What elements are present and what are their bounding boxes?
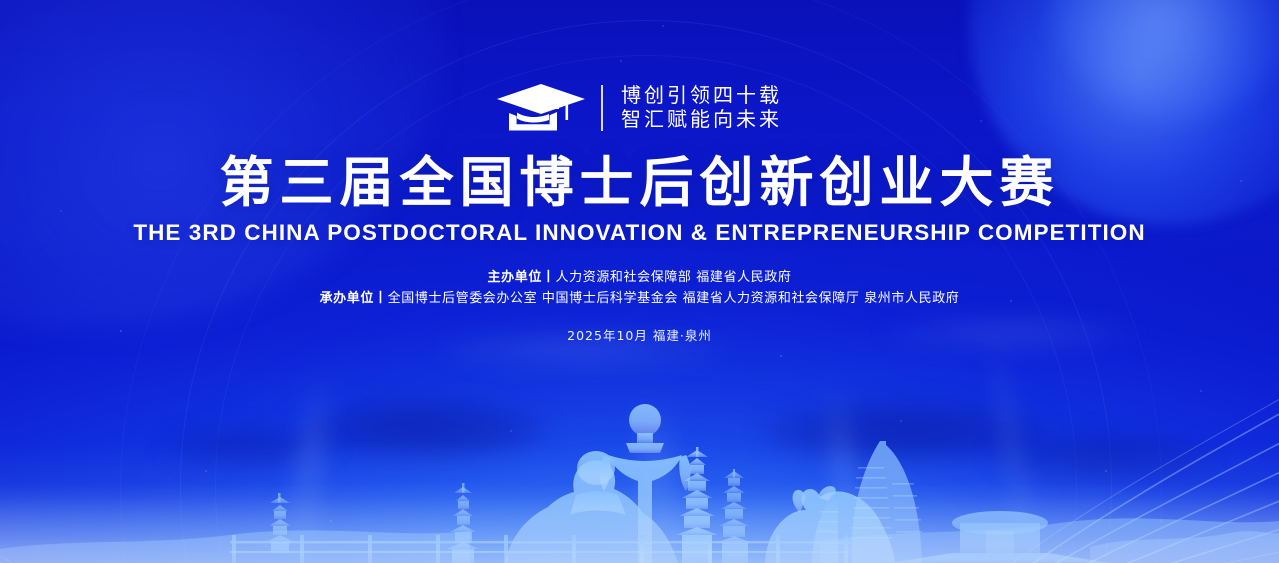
slogan-line-2: 智汇赋能向未来 <box>621 108 782 132</box>
organizer-separator: 丨 <box>374 291 388 306</box>
organizer-line: 主办单位丨人力资源和社会保障部 福建省人民政府 <box>0 267 1279 288</box>
page-title-english: THE 3RD CHINA POSTDOCTORAL INNOVATION & … <box>0 220 1279 246</box>
organizer-value: 人力资源和社会保障部 福建省人民政府 <box>556 270 792 285</box>
organizer-line: 承办单位丨全国博士后管委会办公室 中国博士后科学基金会 福建省人力资源和社会保障… <box>0 288 1279 309</box>
poster-content: 博创引领四十载 智汇赋能向未来 第三届全国博士后创新创业大赛 THE 3RD C… <box>0 0 1279 344</box>
organizer-separator: 丨 <box>542 270 556 285</box>
poster-canvas: 博创引领四十载 智汇赋能向未来 第三届全国博士后创新创业大赛 THE 3RD C… <box>0 0 1279 563</box>
organizer-label: 主办单位 <box>488 270 542 285</box>
event-datetime-location: 2025年10月 福建·泉州 <box>0 325 1279 344</box>
organizers-block: 主办单位丨人力资源和社会保障部 福建省人民政府 承办单位丨全国博士后管委会办公室… <box>0 267 1279 309</box>
organizer-value: 全国博士后管委会办公室 中国博士后科学基金会 福建省人力资源和社会保障厅 泉州市… <box>388 291 960 306</box>
logo-slogan: 博创引领四十载 智汇赋能向未来 <box>617 84 782 131</box>
ground-fog <box>0 443 1279 563</box>
slogan-line-1: 博创引领四十载 <box>621 84 782 108</box>
page-title-chinese: 第三届全国博士后创新创业大赛 <box>0 154 1279 211</box>
organizer-label: 承办单位 <box>320 291 374 306</box>
graduation-cap-logo-icon <box>497 82 587 134</box>
logo-divider <box>601 85 603 131</box>
logo-lockup: 博创引领四十载 智汇赋能向未来 <box>0 78 1279 138</box>
